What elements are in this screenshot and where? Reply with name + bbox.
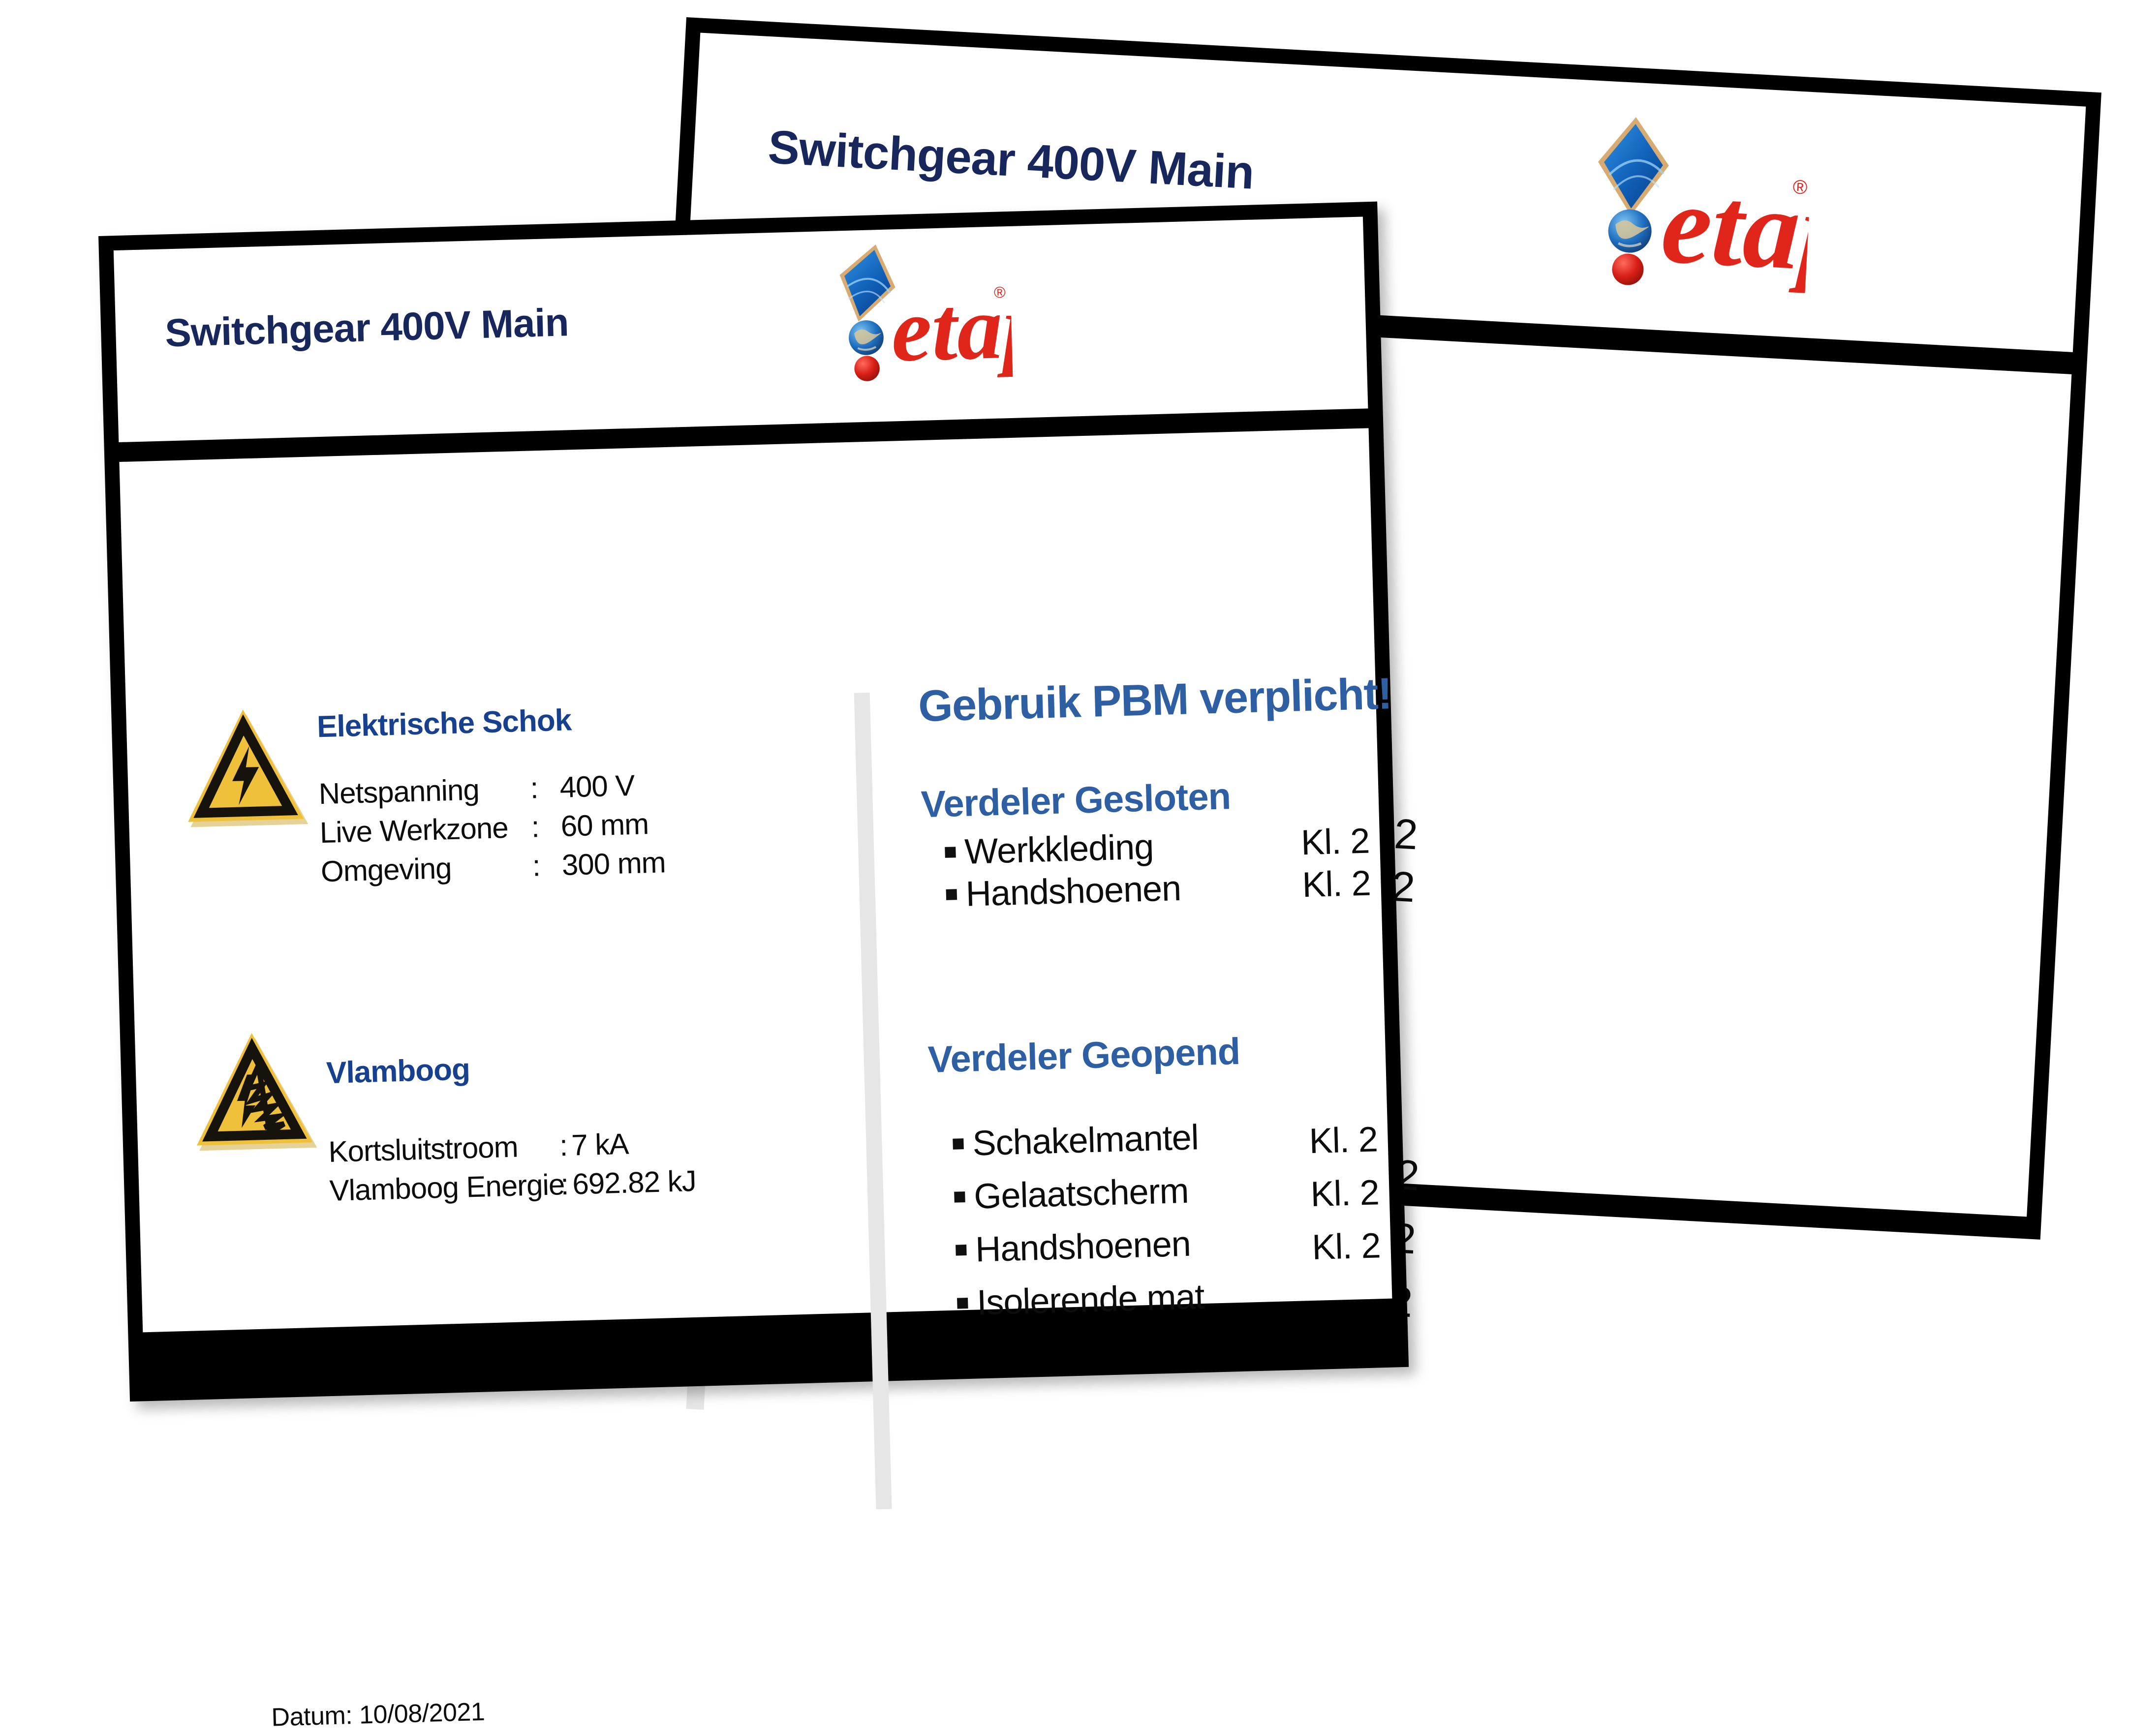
bullet-square-icon <box>953 1138 964 1150</box>
hazard-row-value: 7 kA <box>571 1127 629 1162</box>
front-card-header-band: Switchgear 400V Main <box>114 216 1368 442</box>
front-card-vertical-divider <box>854 693 892 1509</box>
hazard-row-value: 300 mm <box>561 845 666 882</box>
arc-flash-warning-icon <box>189 1027 318 1158</box>
front-ppe-group-closed: Verdeler Gesloten Werkkleding Kl. 2 Hand… <box>921 770 1416 915</box>
hazard-row-label: Live Werkzone <box>319 810 532 850</box>
svg-text:®: ® <box>1792 176 1808 199</box>
etap-logo: etap ® <box>1528 97 1815 318</box>
ppe-item-class: Kl. 2 <box>1292 1224 1425 1268</box>
svg-text:etap: etap <box>1659 160 1815 296</box>
list-item: Handshoenen Kl. 2 <box>932 1218 1425 1271</box>
back-card-title: Switchgear 400V Main <box>767 120 1310 203</box>
front-ppe-heading: Gebruik PBM verplicht! <box>918 668 1411 732</box>
front-card-title: Switchgear 400V Main <box>164 297 657 356</box>
front-ppe-group-title: Verdeler Gesloten <box>921 770 1414 826</box>
hazard-row-value: 400 V <box>559 768 635 804</box>
list-item: Isolerende mat <box>934 1271 1427 1324</box>
ppe-item-class: Kl. 2 <box>1282 862 1416 906</box>
front-card-body-band: Elektrische Schok Netspanning : 400 V Li… <box>119 428 1392 1332</box>
bullet-square-icon <box>945 847 956 858</box>
ppe-item-label: Isolerende mat <box>976 1277 1204 1323</box>
ppe-item-label: Handshoenen <box>965 868 1181 914</box>
hazard-row: Vlamboog Energie : 692.82 kJ <box>329 1160 848 1208</box>
bullet-square-icon <box>954 1191 965 1203</box>
front-card-hazard-section: Elektrische Schok Netspanning : 400 V Li… <box>180 689 848 1217</box>
front-ppe-group-open: Verdeler Geopend Schakelmantel Kl. 2 Gel… <box>927 1025 1427 1324</box>
bullet-square-icon <box>957 1298 968 1309</box>
label-date: Datum: 10/08/2021 <box>271 1697 485 1733</box>
hazard-row-label: Netspanning <box>318 771 531 811</box>
ppe-item-label: Werkkleding <box>964 826 1154 872</box>
ppe-item-class <box>1293 1278 1426 1281</box>
hazard-row-value: 692.82 kJ <box>572 1164 697 1201</box>
hazard-row-separator: : <box>560 1167 573 1202</box>
ppe-item-label: Gelaatscherm <box>973 1171 1189 1217</box>
front-card-ppe-section: Gebruik PBM verplicht! Verdeler Gesloten… <box>918 668 1427 1337</box>
ppe-item-label: Schakelmantel <box>972 1117 1199 1163</box>
hazard-row-separator: : <box>559 1128 572 1163</box>
hazard-row-label: Kortsluitstroom <box>328 1128 560 1169</box>
ppe-item-label: Handshoenen <box>975 1224 1191 1270</box>
hazard-row-separator: : <box>532 848 562 883</box>
hazard-row: Omgeving : 300 mm <box>320 841 839 888</box>
hazard-row-separator: : <box>531 809 561 844</box>
hazard-row-label: Omgeving <box>320 849 533 889</box>
arc-flash-label-card-dutch: Switchgear 400V Main <box>98 202 1409 1401</box>
ppe-item-class: Kl. 2 <box>1281 820 1415 863</box>
hazard-block-electric-shock: Elektrische Schok Netspanning : 400 V Li… <box>180 689 839 897</box>
hazard-title: Elektrische Schok <box>316 696 835 744</box>
svg-text:®: ® <box>994 283 1006 302</box>
bullet-square-icon <box>946 889 957 900</box>
electric-shock-warning-icon <box>180 703 309 834</box>
ppe-item-class: Kl. 2 <box>1289 1118 1423 1162</box>
hazard-row-value: 60 mm <box>560 807 649 843</box>
hazard-row-label: Vlamboog Energie <box>329 1167 561 1208</box>
list-item: Schakelmantel Kl. 2 <box>929 1111 1422 1165</box>
hazard-title: Vlamboog <box>326 1042 845 1091</box>
front-ppe-group-title: Verdeler Geopend <box>927 1025 1420 1081</box>
hazard-block-arc-flash: Vlamboog Kortsluitstroom : 7 kA Vlamboog… <box>189 1012 848 1217</box>
hazard-row-separator: : <box>530 770 560 805</box>
ppe-item-class: Kl. 2 <box>1291 1171 1424 1215</box>
bullet-square-icon <box>956 1245 967 1256</box>
list-item: Gelaatscherm Kl. 2 <box>931 1164 1424 1218</box>
etap-logo: etap ® <box>788 231 1014 404</box>
